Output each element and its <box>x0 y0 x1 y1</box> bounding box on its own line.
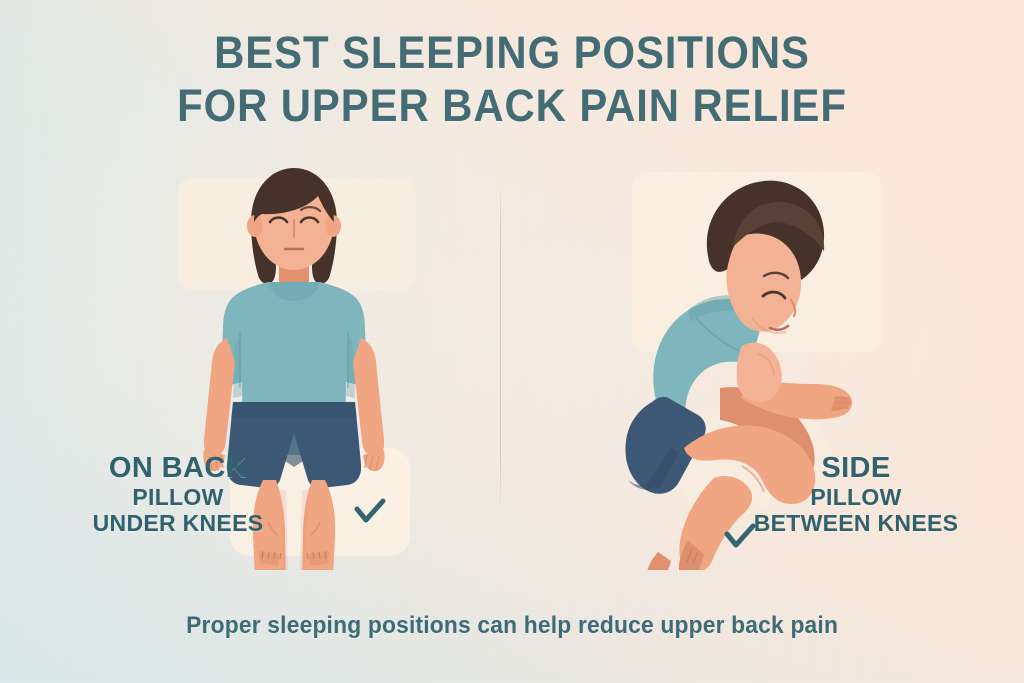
panel-sub-on-back-line1: PILLOW <box>28 484 328 510</box>
panel-sub-on-back-line2: UNDER KNEES <box>28 510 328 536</box>
page-title: BEST SLEEPING POSITIONS FOR UPPER BACK P… <box>0 26 1024 132</box>
panel-heading-on-back: ON BACK <box>28 452 328 484</box>
title-line-2: FOR UPPER BACK PAIN RELIEF <box>36 79 988 132</box>
footer-caption: Proper sleeping positions can help reduc… <box>0 612 1024 640</box>
infographic-root: BEST SLEEPING POSITIONS FOR UPPER BACK P… <box>0 0 1024 683</box>
panel-heading-side: SIDE <box>706 452 1006 484</box>
footer-text: Proper sleeping positions can help reduc… <box>186 612 838 640</box>
foot-lower <box>646 552 671 570</box>
check-icon <box>718 513 762 557</box>
panel-divider <box>500 182 501 512</box>
panel-label-on-back: ON BACK PILLOW UNDER KNEES <box>28 452 328 536</box>
panel-sub-side-line1: PILLOW <box>706 484 1006 510</box>
title-line-1: BEST SLEEPING POSITIONS <box>36 26 988 79</box>
check-icon <box>348 488 392 532</box>
